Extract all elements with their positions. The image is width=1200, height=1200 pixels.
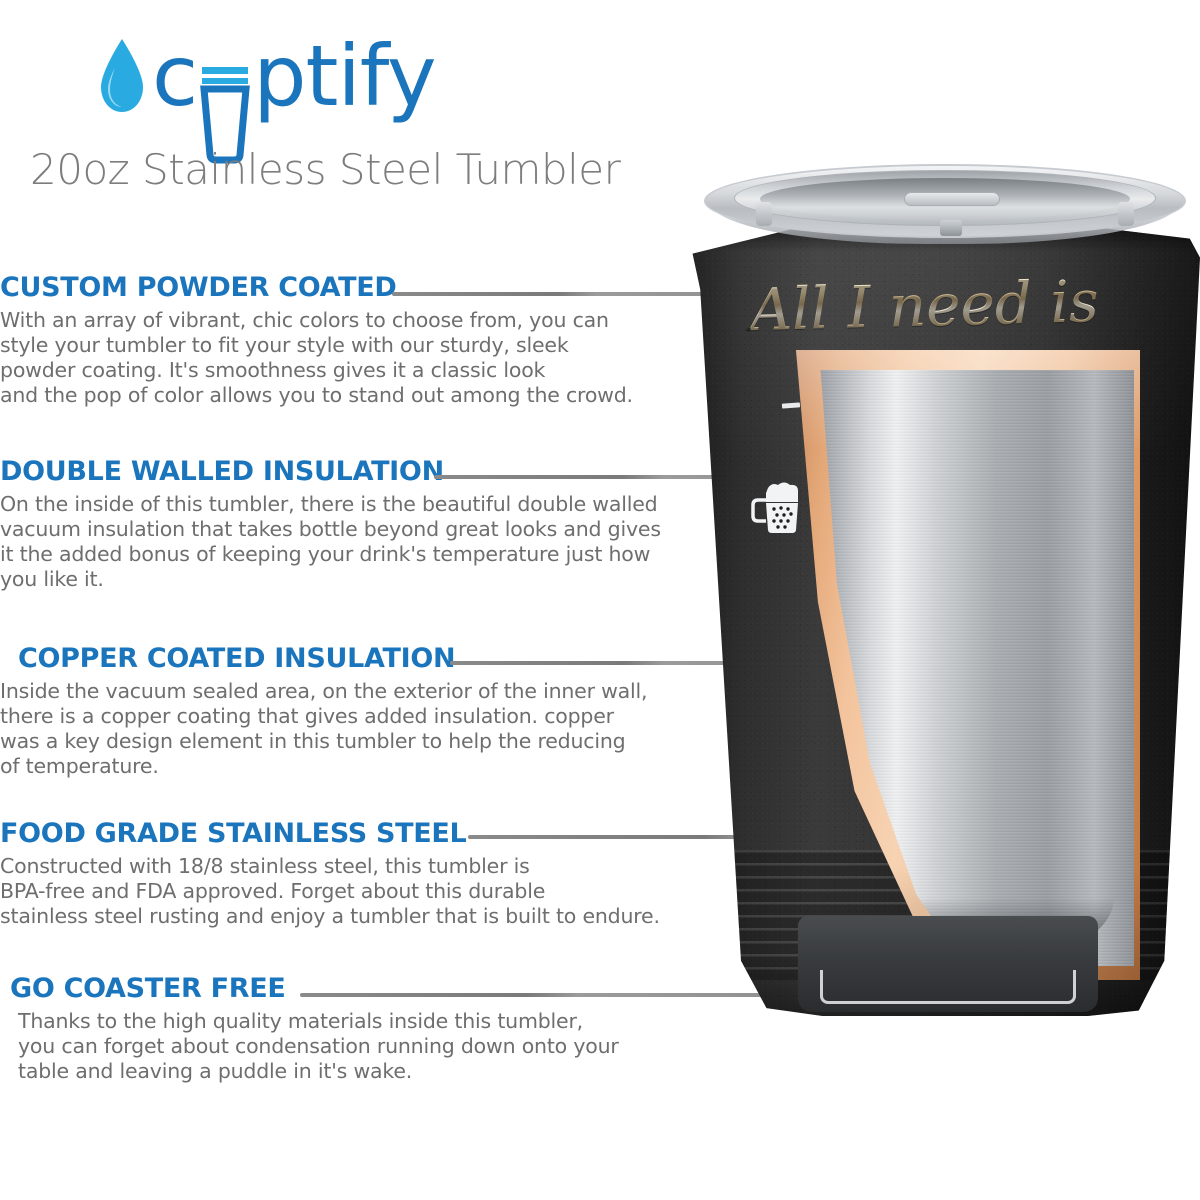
- infographic-page: cptify 20oz Stainless Steel Tumbler CUST…: [0, 0, 1200, 1200]
- logo-wordmark: cptify: [152, 34, 436, 118]
- feature-body: Inside the vacuum sealed area, on the ex…: [0, 679, 718, 779]
- feature-title: CUSTOM POWDER COATED: [0, 274, 700, 302]
- feature-body: With an array of vibrant, chic colors to…: [0, 308, 700, 408]
- logo-word-prefix: c: [152, 27, 197, 125]
- feature-title: DOUBLE WALLED INSULATION: [0, 458, 700, 486]
- cuptify-logo: cptify: [98, 28, 436, 123]
- lid-tab-left: [756, 202, 772, 226]
- lid-hinge: [940, 220, 962, 236]
- base-slot: [820, 970, 1076, 1004]
- feature-title: COPPER COATED INSULATION: [18, 645, 718, 673]
- lid-tab-right: [1118, 202, 1134, 226]
- feature-body: Constructed with 18/8 stainless steel, t…: [0, 854, 700, 929]
- tumbler-product-image: All I need is: [690, 158, 1200, 1048]
- lid-slider[interactable]: [904, 192, 1000, 206]
- beer-mug-icon: [748, 476, 810, 538]
- feature-copper-coated-insulation: COPPER COATED INSULATION Inside the vacu…: [18, 645, 718, 779]
- logo-word-suffix: ptify: [253, 27, 435, 125]
- feature-body: Thanks to the high quality materials ins…: [18, 1009, 710, 1084]
- feature-title: GO COASTER FREE: [10, 975, 710, 1003]
- water-drop-icon: [98, 37, 146, 115]
- feature-go-coaster-free: GO COASTER FREE Thanks to the high quali…: [10, 975, 710, 1084]
- feature-body: On the inside of this tumbler, there is …: [0, 492, 700, 592]
- engraved-script-text: All I need is: [749, 271, 1150, 339]
- page-title: 20oz Stainless Steel Tumbler: [30, 145, 620, 194]
- tumbler-lid: [704, 158, 1186, 244]
